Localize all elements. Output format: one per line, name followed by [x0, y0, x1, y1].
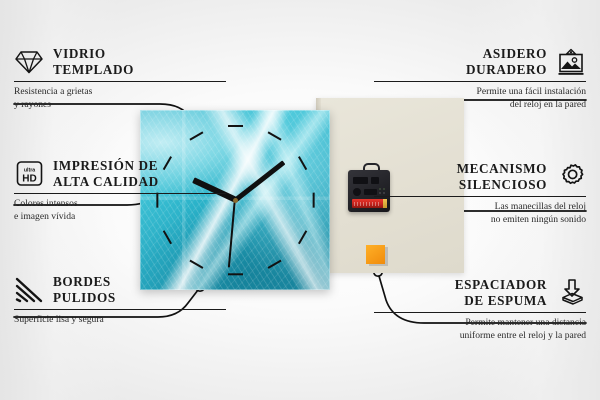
- feature-vidrio-templado: VIDRIO TEMPLADO Resistencia a grietas y …: [14, 46, 226, 111]
- feature-asidero-duradero: ASIDERO DURADERO Permite una fácil insta…: [374, 46, 586, 111]
- feature-header: ASIDERO DURADERO: [374, 46, 586, 77]
- wall-hanging-picture-icon: [556, 47, 586, 77]
- feature-description: Las manecillas del reloj no emiten ningú…: [374, 201, 586, 226]
- feature-title: IMPRESIÓN DE ALTA CALIDAD: [53, 158, 159, 189]
- diamond-icon: [14, 47, 44, 77]
- feature-title: MECANISMO SILENCIOSO: [457, 161, 547, 192]
- gear-icon: [556, 162, 586, 192]
- feature-divider: [374, 196, 586, 197]
- movement-detail: [353, 177, 368, 184]
- feature-espaciador-de-espuma: ESPACIADOR DE ESPUMA Permite mantener un…: [374, 277, 586, 342]
- ultra-hd-icon: ultra HD: [14, 159, 44, 189]
- clock-tick: [228, 273, 243, 275]
- orange-foam-spacer: [366, 245, 385, 264]
- svg-text:HD: HD: [22, 174, 36, 185]
- feature-divider: [14, 81, 226, 82]
- feature-header: ultra HD IMPRESIÓN DE ALTA CALIDAD: [14, 158, 226, 189]
- feature-description: Superficie lisa y segura: [14, 314, 226, 327]
- clock-tick: [228, 125, 243, 127]
- feature-description: Permite una fácil instalación del reloj …: [374, 86, 586, 111]
- feature-description: Resistencia a grietas y rayones: [14, 86, 226, 111]
- feature-divider: [374, 81, 586, 82]
- feature-divider: [14, 193, 226, 194]
- feature-header: ESPACIADOR DE ESPUMA: [374, 277, 586, 308]
- feature-title: ESPACIADOR DE ESPUMA: [455, 277, 547, 308]
- movement-detail: [353, 188, 361, 196]
- infographic-canvas: VIDRIO TEMPLADO Resistencia a grietas y …: [0, 0, 600, 400]
- polished-edges-icon: [14, 275, 44, 305]
- feature-title: BORDES PULIDOS: [53, 274, 116, 305]
- clock-hands-pivot: [233, 198, 238, 203]
- feature-impresion-alta-calidad: ultra HD IMPRESIÓN DE ALTA CALIDAD Color…: [14, 158, 226, 223]
- feature-mecanismo-silencioso: MECANISMO SILENCIOSO Las manecillas del …: [374, 161, 586, 226]
- feature-divider: [14, 309, 226, 310]
- feature-header: BORDES PULIDOS: [14, 274, 226, 305]
- foam-spacer-arrow-icon: [556, 278, 586, 308]
- feature-divider: [374, 312, 586, 313]
- feature-header: VIDRIO TEMPLADO: [14, 46, 226, 77]
- feature-header: MECANISMO SILENCIOSO: [374, 161, 586, 192]
- feature-description: Colores intensos e imagen vívida: [14, 198, 226, 223]
- feature-bordes-pulidos: BORDES PULIDOS Superficie lisa y segura: [14, 274, 226, 327]
- clock-tick: [312, 192, 314, 207]
- feature-title: ASIDERO DURADERO: [466, 46, 547, 77]
- feature-title: VIDRIO TEMPLADO: [53, 46, 134, 77]
- feature-description: Permite mantener una distancia uniforme …: [374, 317, 586, 342]
